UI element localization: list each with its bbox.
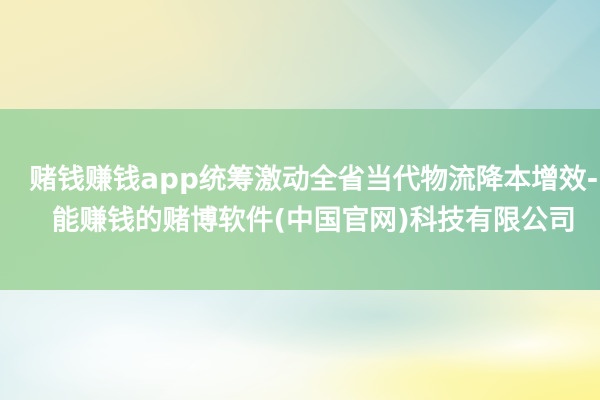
banner-headline: 赌钱赚钱app统筹激动全省当代物流降本增效-能赚钱的赌博软件(中国官网)科技有限… [28, 159, 600, 241]
banner-image: 赌钱赚钱app统筹激动全省当代物流降本增效-能赚钱的赌博软件(中国官网)科技有限… [0, 0, 600, 400]
headline-container: 赌钱赚钱app统筹激动全省当代物流降本增效-能赚钱的赌博软件(中国官网)科技有限… [0, 109, 600, 290]
